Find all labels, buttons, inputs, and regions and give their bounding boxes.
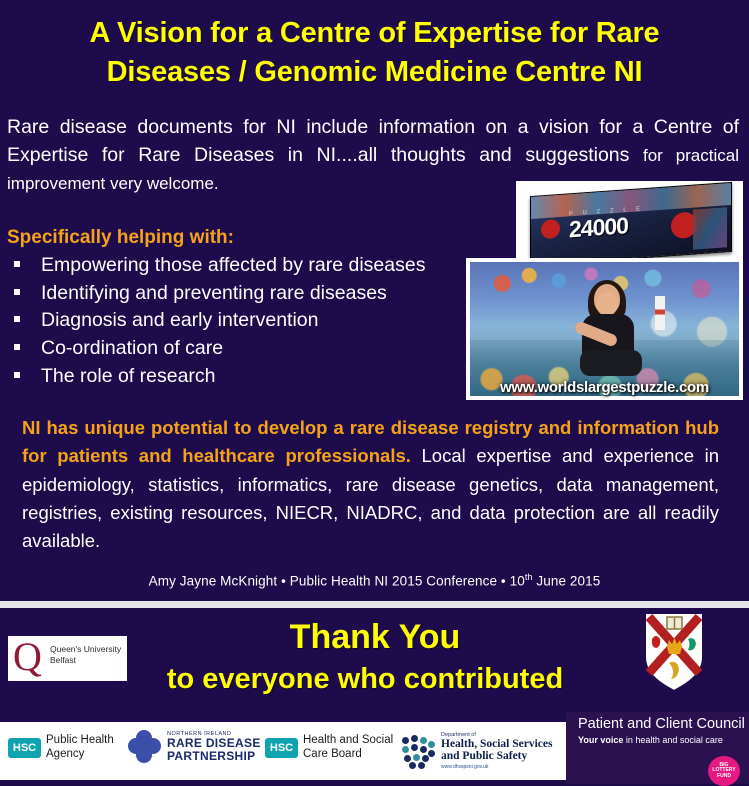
credit-superscript: th [525, 572, 533, 582]
pcc-tagline-bold: Your voice [578, 735, 623, 745]
list-item: Diagnosis and early intervention [7, 307, 477, 335]
big-lottery-fund-logo: BIG LOTTERY FUND [708, 756, 740, 786]
flower-icon [128, 730, 161, 763]
logo-rare-disease-partnership: NORTHERN IRELAND RARE DISEASE PARTNERSHI… [128, 730, 261, 763]
thank-you-headline: Thank You [135, 618, 615, 657]
lighthouse-illustration [655, 296, 665, 330]
list-item-label: Identifying and preventing rare diseases [41, 282, 387, 304]
square-bullet-icon [14, 261, 20, 267]
puzzle-box-piece-count: 24000 [569, 212, 628, 243]
highlight-paragraph: NI has unique potential to develop a rar… [22, 414, 719, 555]
specifically-heading: Specifically helping with: [7, 227, 234, 249]
queens-university-logo: Q Queen's University Belfast [8, 636, 127, 681]
logo-public-health-agency: HSC Public Health Agency [8, 734, 114, 762]
big-lottery-text: BIG LOTTERY FUND [712, 763, 735, 780]
list-item-label: The role of research [41, 365, 216, 387]
list-item: Empowering those affected by rare diseas… [7, 252, 477, 280]
public-health-agency-text: Public Health Agency [46, 734, 114, 762]
square-bullet-icon [14, 372, 20, 378]
credit-line: Amy Jayne McKnight • Public Health NI 20… [0, 572, 749, 589]
dhssps-line-2: and Public Safety [441, 750, 552, 762]
credit-author: Amy Jayne McKnight • Public Health NI 20… [149, 574, 525, 589]
page-title: A Vision for a Centre of Expertise for R… [0, 14, 749, 91]
person-legs [580, 350, 642, 376]
puzzle-box-brand-badge [541, 219, 560, 239]
puzzle-box-side-art [693, 207, 727, 249]
list-item: The role of research [7, 363, 477, 391]
logo-patient-and-client-council: Patient and Client Council Your voice in… [578, 716, 745, 747]
puzzle-photo-image: www.worldslargestpuzzle.com [466, 258, 743, 400]
puzzle-photo-caption: www.worldslargestpuzzle.com [466, 379, 743, 396]
hscb-text: Health and Social Care Board [303, 734, 393, 762]
rdp-line-2: PARTNERSHIP [167, 750, 261, 763]
page-title-line-2: Diseases / Genomic Medicine Centre NI [0, 53, 749, 92]
list-item: Co-ordination of care [7, 335, 477, 363]
page-title-line-1: A Vision for a Centre of Expertise for R… [0, 14, 749, 53]
credit-date: June 2015 [533, 574, 601, 589]
section-divider [0, 601, 749, 608]
specifically-bullet-list: Empowering those affected by rare diseas… [7, 252, 477, 390]
rdp-line-1: RARE DISEASE [167, 737, 261, 750]
puzzle-box-image: P U Z Z L E 24000 [516, 181, 743, 265]
queens-q-mark: Q [13, 639, 47, 677]
list-item-label: Co-ordination of care [41, 337, 223, 359]
pcc-tagline-rest: in health and social care [623, 735, 723, 745]
dhssps-line-1: Health, Social Services [441, 738, 552, 750]
dhssps-dot-grid-icon [400, 733, 436, 769]
hsc-mark-icon: HSC [8, 738, 41, 758]
list-item-label: Empowering those affected by rare diseas… [41, 254, 425, 276]
pha-line-2: Agency [46, 748, 114, 762]
puzzle-photo-scene [470, 262, 739, 396]
square-bullet-icon [14, 344, 20, 350]
pcc-tagline: Your voice in health and social care [578, 735, 745, 747]
slide-canvas: A Vision for a Centre of Expertise for R… [0, 0, 749, 784]
pha-line-1: Public Health [46, 734, 114, 748]
logo-health-and-social-care-board: HSC Health and Social Care Board [265, 734, 393, 762]
queens-logo-line-2: Belfast [50, 655, 121, 666]
person-face [596, 292, 618, 316]
pcc-title: Patient and Client Council [578, 716, 745, 733]
hscb-line-1: Health and Social [303, 734, 393, 748]
flower-centre [136, 739, 152, 755]
person-illustration [572, 284, 646, 380]
logo-dhssps: Department of Health, Social Services an… [400, 724, 560, 778]
square-bullet-icon [14, 316, 20, 322]
hscb-line-2: Care Board [303, 748, 393, 762]
dhssps-url: www.dhsspsni.gov.uk [441, 764, 552, 770]
thank-you-subline: to everyone who contributed [115, 663, 615, 696]
list-item-label: Diagnosis and early intervention [41, 309, 319, 331]
list-item: Identifying and preventing rare diseases [7, 280, 477, 308]
square-bullet-icon [14, 289, 20, 295]
queens-logo-line-1: Queen's University [50, 644, 121, 655]
hsc-mark-icon: HSC [265, 738, 298, 758]
big-lottery-line-3: FUND [712, 774, 735, 780]
queens-university-crest-icon [643, 611, 705, 693]
dhssps-text: Department of Health, Social Services an… [441, 732, 552, 771]
puzzle-box-render: P U Z Z L E 24000 [530, 182, 732, 265]
rare-disease-partnership-text: NORTHERN IRELAND RARE DISEASE PARTNERSHI… [167, 731, 261, 762]
queens-logo-text: Queen's University Belfast [50, 644, 121, 667]
intro-main-text: Rare disease documents for NI include in… [7, 116, 739, 166]
